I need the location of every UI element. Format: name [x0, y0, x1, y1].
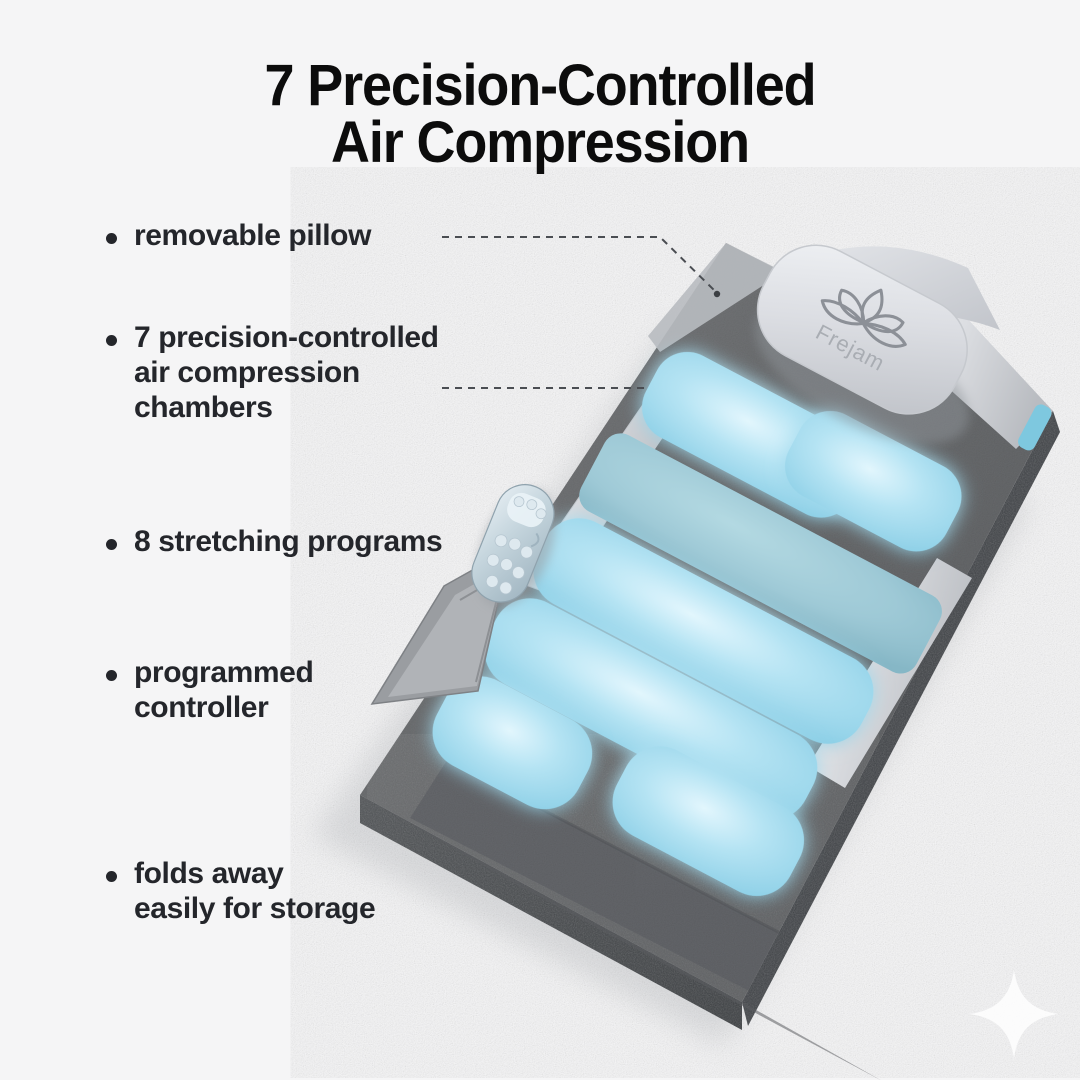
feature-label: folds away easily for storage [134, 856, 375, 926]
feature-item-air-chambers: 7 precision-controlled air compression c… [106, 320, 439, 425]
pillow-leader-point [714, 291, 720, 297]
feature-item-folds-away: folds away easily for storage [106, 856, 375, 926]
feature-item-removable-pillow: removable pillow [106, 218, 371, 253]
feature-label: removable pillow [134, 218, 371, 253]
feature-label: programmed controller [134, 655, 313, 725]
feature-item-controller: programmed controller [106, 655, 313, 725]
feature-label: 8 stretching programs [134, 524, 442, 559]
bullet-dot-icon [106, 871, 117, 882]
bullet-dot-icon [106, 335, 117, 346]
feature-label: 7 precision-controlled air compression c… [134, 320, 439, 425]
bullet-dot-icon [106, 670, 117, 681]
bullet-dot-icon [106, 539, 117, 550]
sparkle-icon [966, 966, 1062, 1062]
feature-item-stretch-programs: 8 stretching programs [106, 524, 442, 559]
feature-list: removable pillow 7 precision-controlled … [0, 0, 560, 1080]
bullet-dot-icon [106, 233, 117, 244]
